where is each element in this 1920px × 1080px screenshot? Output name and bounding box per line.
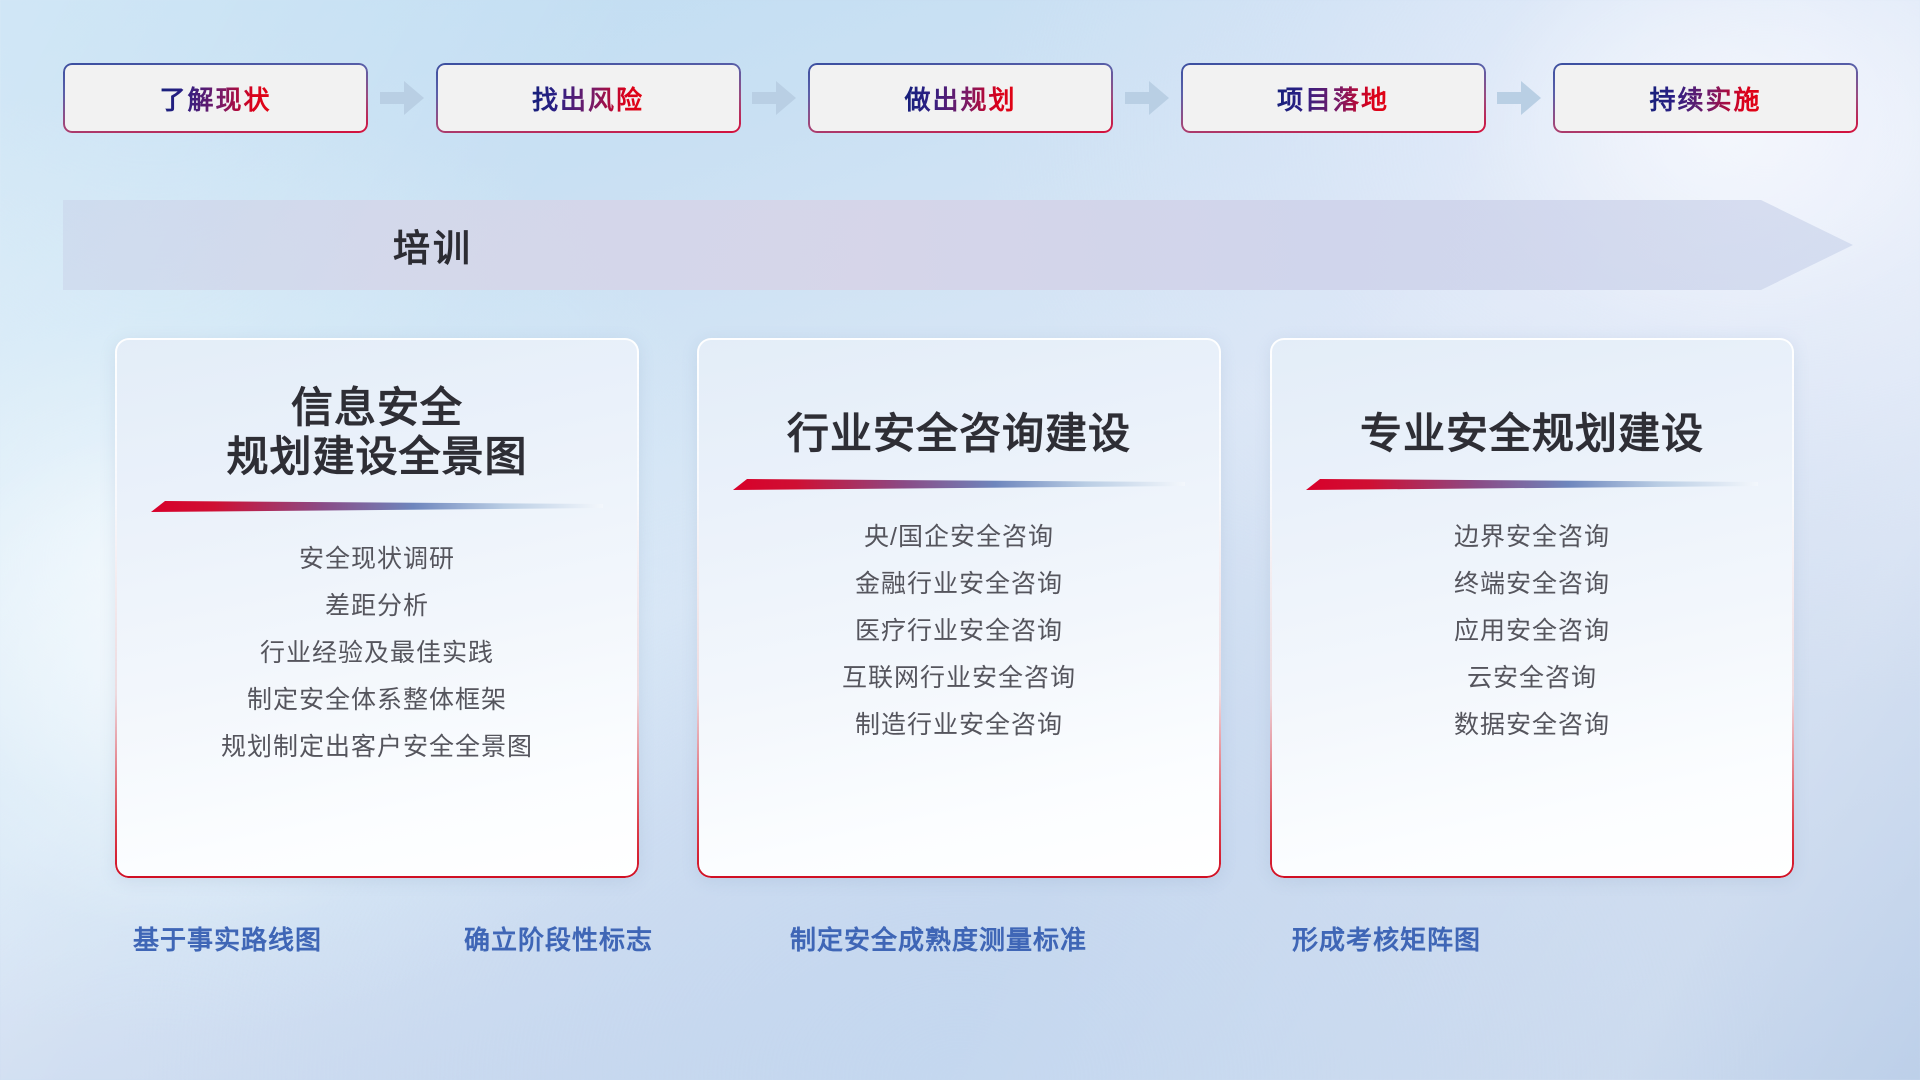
process-step-3-label: 做出规划 xyxy=(904,80,1016,117)
caption-assessment-matrix: 形成考核矩阵图 xyxy=(1292,920,1481,957)
process-step-1-label: 了解现状 xyxy=(159,80,271,117)
list-item: 制定安全体系整体框架 xyxy=(247,677,507,724)
process-step-2-label: 找出风险 xyxy=(532,80,644,117)
process-step-4-label: 项目落地 xyxy=(1277,80,1389,117)
card-1-title-line-2: 规划建设全景图 xyxy=(115,433,639,482)
caption-milestones: 确立阶段性标志 xyxy=(464,920,653,957)
process-flow-row: 了解现状 找出风险 做出规划 项目落地 持续实施 xyxy=(63,63,1858,133)
card-1-title-line-1: 信息安全 xyxy=(115,384,639,433)
list-item: 终端安全咨询 xyxy=(1454,561,1610,608)
card-3-list: 边界安全咨询 终端安全咨询 应用安全咨询 云安全咨询 数据安全咨询 xyxy=(1270,514,1794,749)
process-step-4[interactable]: 项目落地 xyxy=(1181,63,1486,133)
captions-row: 基于事实路线图 确立阶段性标志 制定安全成熟度测量标准 形成考核矩阵图 xyxy=(0,920,1920,970)
process-step-5-label: 持续实施 xyxy=(1649,80,1761,117)
card-3-title: 专业安全规划建设 xyxy=(1270,410,1794,459)
training-band-title: 培训 xyxy=(63,200,1853,290)
caption-maturity-standard: 制定安全成熟度测量标准 xyxy=(790,920,1087,957)
list-item: 央/国企安全咨询 xyxy=(864,514,1054,561)
arrow-right-icon xyxy=(1497,81,1541,115)
list-item: 金融行业安全咨询 xyxy=(855,561,1063,608)
card-professional-security-planning[interactable]: 专业安全规划建设 边界安全咨询 终端安全咨询 应用安全咨询 云安全咨询 数据安全… xyxy=(1270,338,1794,878)
list-item: 应用安全咨询 xyxy=(1454,608,1610,655)
card-2-divider xyxy=(733,479,1185,490)
list-item: 云安全咨询 xyxy=(1467,655,1597,702)
arrow-right-icon xyxy=(752,81,796,115)
arrow-right-icon xyxy=(380,81,424,115)
caption-roadmap: 基于事实路线图 xyxy=(133,920,322,957)
list-item: 行业经验及最佳实践 xyxy=(260,630,494,677)
cards-container: 信息安全 规划建设全景图 安全现状调研 差距分析 行业经验及最佳实践 制定安全体… xyxy=(0,338,1920,878)
card-2-title: 行业安全咨询建设 xyxy=(697,410,1221,459)
list-item: 边界安全咨询 xyxy=(1454,514,1610,561)
card-1-title: 信息安全 规划建设全景图 xyxy=(115,384,639,481)
list-item: 安全现状调研 xyxy=(299,536,455,583)
card-2-title-line-1: 行业安全咨询建设 xyxy=(697,410,1221,459)
list-item: 互联网行业安全咨询 xyxy=(842,655,1076,702)
card-information-security-blueprint[interactable]: 信息安全 规划建设全景图 安全现状调研 差距分析 行业经验及最佳实践 制定安全体… xyxy=(115,338,639,878)
process-step-2[interactable]: 找出风险 xyxy=(436,63,741,133)
training-band: 培训 xyxy=(63,200,1853,290)
arrow-right-icon xyxy=(1125,81,1169,115)
card-2-list: 央/国企安全咨询 金融行业安全咨询 医疗行业安全咨询 互联网行业安全咨询 制造行… xyxy=(697,514,1221,749)
process-step-5[interactable]: 持续实施 xyxy=(1553,63,1858,133)
card-3-title-line-1: 专业安全规划建设 xyxy=(1270,410,1794,459)
process-step-3[interactable]: 做出规划 xyxy=(808,63,1113,133)
card-1-divider xyxy=(151,501,603,512)
card-1-list: 安全现状调研 差距分析 行业经验及最佳实践 制定安全体系整体框架 规划制定出客户… xyxy=(115,536,639,771)
process-step-1[interactable]: 了解现状 xyxy=(63,63,368,133)
card-industry-security-consulting[interactable]: 行业安全咨询建设 央/国企安全咨询 金融行业安全咨询 医疗行业安全咨询 互联网行… xyxy=(697,338,1221,878)
list-item: 差距分析 xyxy=(325,583,429,630)
card-3-divider xyxy=(1306,479,1758,490)
list-item: 数据安全咨询 xyxy=(1454,702,1610,749)
list-item: 医疗行业安全咨询 xyxy=(855,608,1063,655)
list-item: 规划制定出客户安全全景图 xyxy=(221,724,533,771)
list-item: 制造行业安全咨询 xyxy=(855,702,1063,749)
